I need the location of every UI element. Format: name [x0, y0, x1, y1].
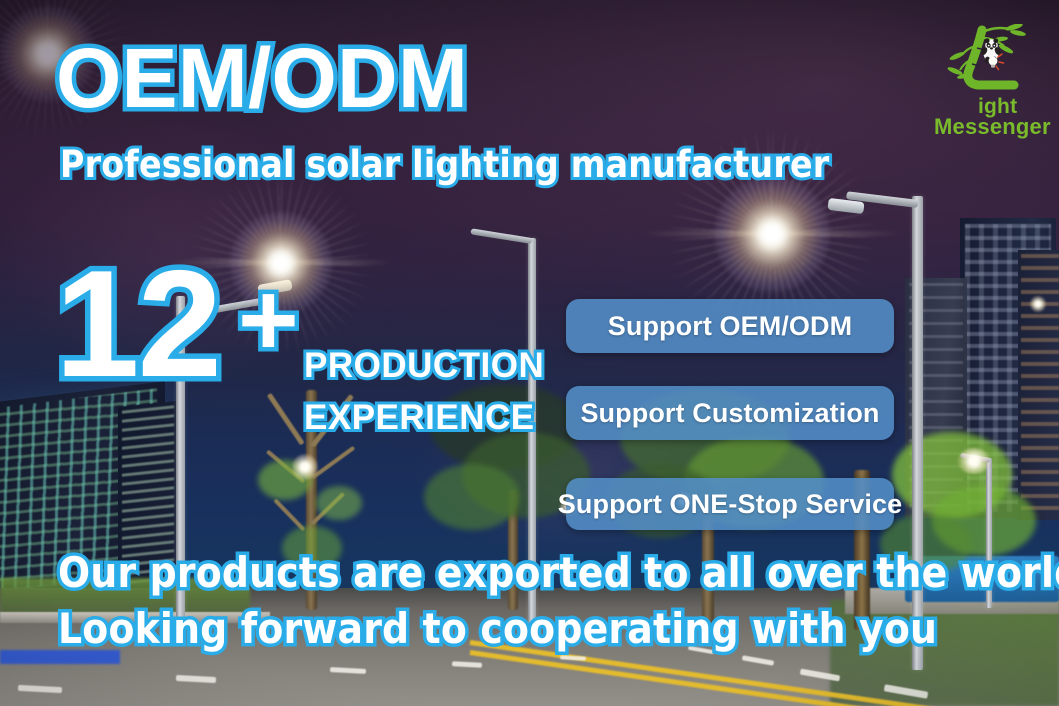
slogan-line-1: Our products are exported to all over th…	[58, 552, 1059, 594]
page-subtitle: Professional solar lighting manufacturer	[60, 146, 829, 183]
experience-label-line1: PRODUCTION	[304, 348, 544, 383]
feature-pill-customization[interactable]: Support Customization	[566, 386, 894, 440]
logo-text-messenger: Messenger	[934, 116, 1051, 138]
slogan-line-2: Looking forward to cooperating with you	[58, 608, 937, 650]
years-count: 12	[55, 248, 220, 400]
feature-pill-oem-odm[interactable]: Support OEM/ODM	[566, 299, 894, 353]
page-title: OEM/ODM	[56, 36, 468, 120]
banner-content: OEM/ODM Professional solar lighting manu…	[0, 0, 1059, 706]
bamboo-panda-lightbulb-icon	[938, 24, 1042, 94]
experience-label-line2: EXPERIENCE	[304, 400, 535, 435]
feature-pill-one-stop-service[interactable]: Support ONE-Stop Service	[566, 478, 894, 530]
brand-logo[interactable]: ight Messenger	[930, 22, 1050, 118]
promo-banner: OEM/ODM Professional solar lighting manu…	[0, 0, 1059, 706]
plus-sign: +	[238, 268, 299, 372]
